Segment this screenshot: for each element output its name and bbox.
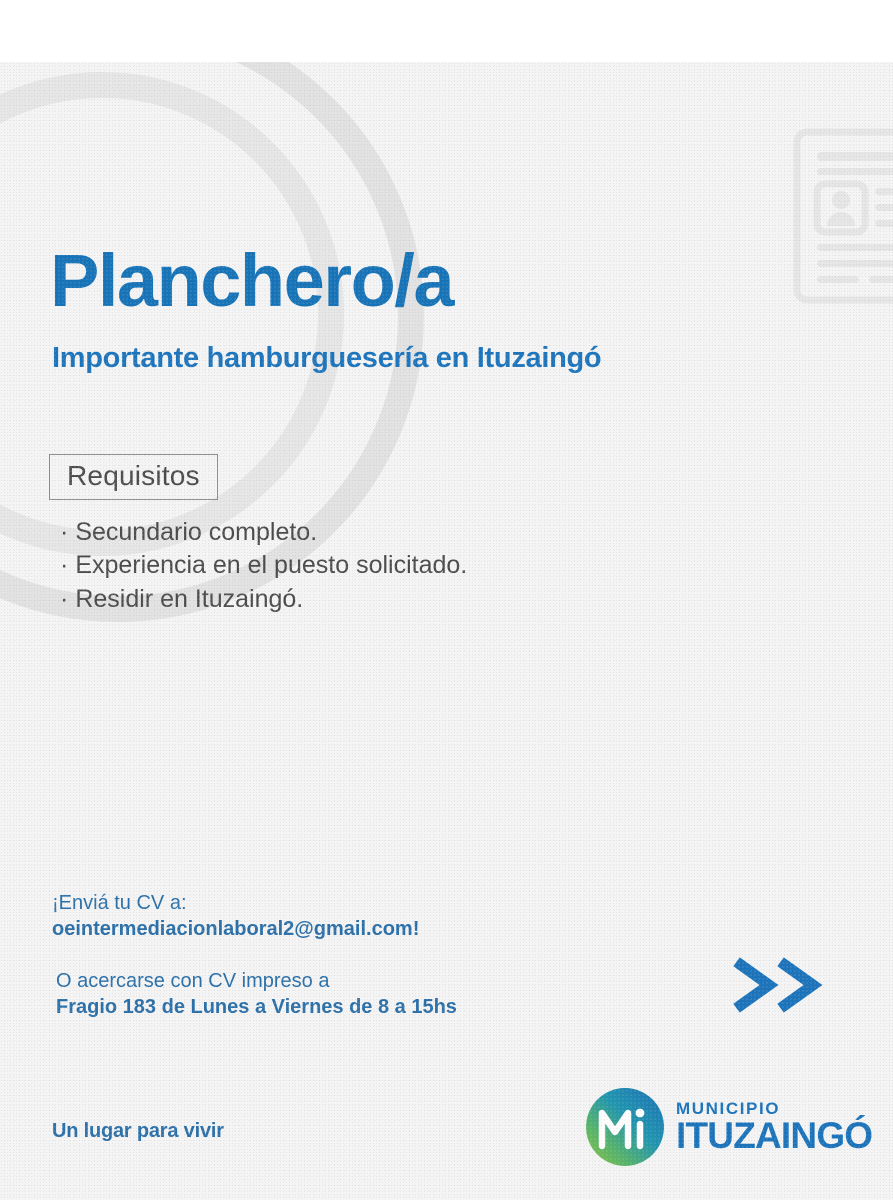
logo-line-ituzaingo: ITUZAINGÓ (676, 1117, 872, 1154)
municipality-logo: MUNICIPIO ITUZAINGÓ (586, 1088, 872, 1166)
cv-prompt-text: ¡Enviá tu CV a: (52, 890, 457, 916)
logo-wordmark: MUNICIPIO ITUZAINGÓ (676, 1100, 872, 1155)
requirement-text: Secundario completo. (75, 518, 317, 546)
requirements-heading-label: Requisitos (67, 460, 200, 491)
in-person-prompt-text: O acercarse con CV impreso a (52, 968, 457, 994)
job-subtitle: Importante hamburguesería en Ituzaingó (52, 344, 601, 373)
job-posting-poster: Planchero/a Importante hamburguesería en… (0, 62, 893, 1200)
requirement-text: Experiencia en el puesto solicitado. (75, 551, 467, 579)
contact-spacer (52, 942, 457, 968)
page-title: Planchero/a (50, 244, 453, 318)
requirements-list: ·Secundario completo. ·Experiencia en el… (60, 516, 467, 616)
double-chevron-right-icon (733, 957, 829, 1013)
requirements-heading-box: Requisitos (49, 454, 218, 500)
contact-block: ¡Enviá tu CV a: oeintermediacionlaboral2… (52, 890, 457, 1020)
municipality-tagline: Un lugar para vivir (52, 1120, 224, 1143)
requirement-text: Residir en Ituzaingó. (75, 585, 303, 613)
list-item: ·Secundario completo. (60, 516, 467, 549)
bullet-glyph: · (60, 551, 68, 579)
contact-address: Fragio 183 de Lunes a Viernes de 8 a 15h… (52, 994, 457, 1020)
list-item: ·Residir en Ituzaingó. (60, 583, 467, 616)
bullet-glyph: · (60, 585, 68, 613)
list-item: ·Experiencia en el puesto solicitado. (60, 549, 467, 582)
contact-email[interactable]: oeintermediacionlaboral2@gmail.com! (52, 916, 457, 942)
municipio-ituzaingo-logo-icon (586, 1088, 664, 1166)
bullet-glyph: · (60, 518, 68, 546)
